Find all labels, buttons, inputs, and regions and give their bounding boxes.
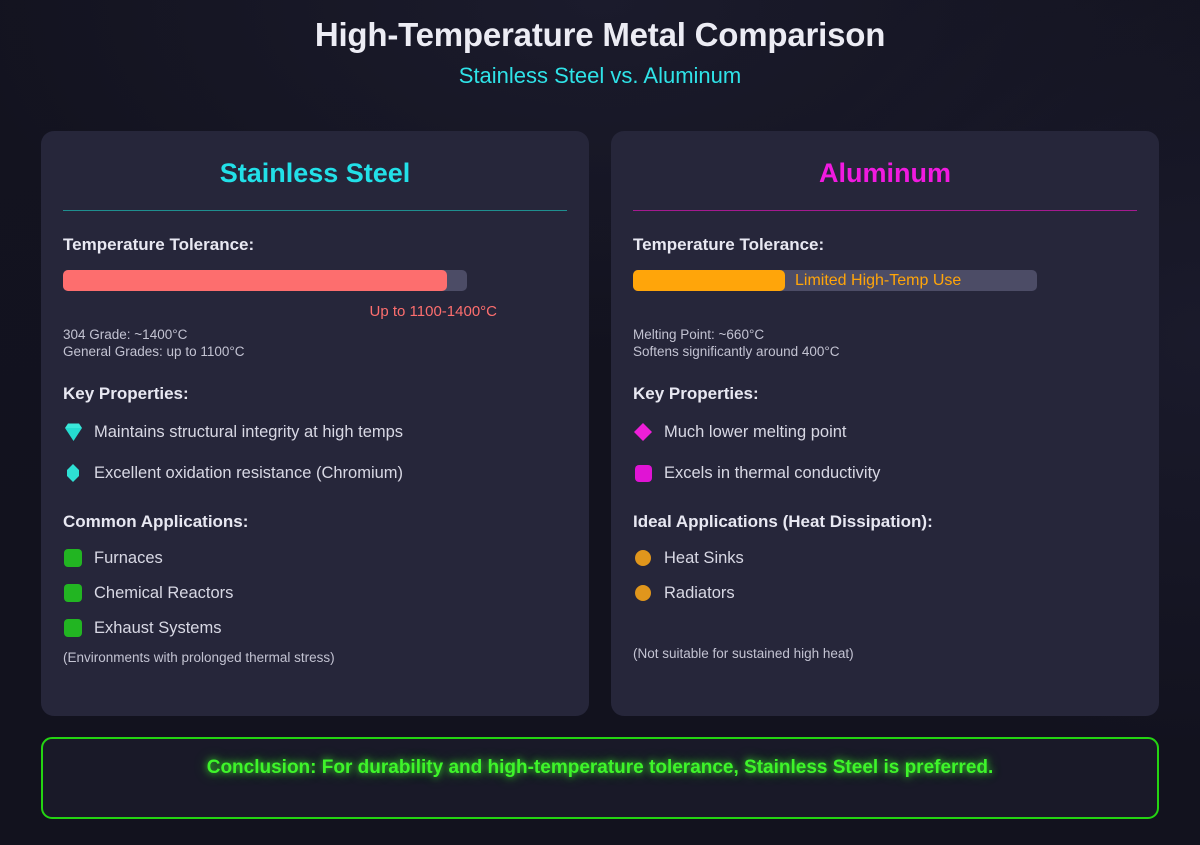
temperature-bar-row: Up to 1100-1400°C	[63, 270, 567, 320]
temperature-bar-fill	[633, 270, 785, 291]
list-item-label: Excellent oxidation resistance (Chromium…	[94, 463, 403, 483]
list-item: Exhaust Systems	[63, 615, 567, 641]
list-item: Radiators	[633, 580, 1137, 606]
list-item: Much lower melting point	[633, 417, 1137, 447]
page-header: High-Temperature Metal Comparison Stainl…	[0, 0, 1200, 89]
list-item-label: Excels in thermal conductivity	[664, 463, 880, 483]
list-item: Chemical Reactors	[63, 580, 567, 606]
list-item: Furnaces	[63, 545, 567, 571]
common-applications-label: Common Applications:	[63, 512, 567, 532]
orange-circle-icon	[633, 583, 653, 603]
temperature-bar-inline-label: Limited High-Temp Use	[795, 270, 961, 291]
green-square-icon	[63, 548, 83, 568]
list-item-label: Heat Sinks	[664, 548, 744, 568]
card-stainless-steel: Stainless Steel Temperature Tolerance: U…	[41, 131, 589, 716]
page-subtitle: Stainless Steel vs. Aluminum	[0, 63, 1200, 89]
temperature-bar-caption: Up to 1100-1400°C	[63, 303, 497, 320]
card-aluminum: Aluminum Temperature Tolerance: Limited …	[611, 131, 1159, 716]
conclusion-text: Conclusion: For durability and high-temp…	[207, 757, 994, 778]
list-item-label: Radiators	[664, 583, 735, 603]
applications-list: Furnaces Chemical Reactors Exhaust Syste…	[63, 545, 567, 641]
list-item-label: Maintains structural integrity at high t…	[94, 422, 403, 442]
applications-list: Heat Sinks Radiators	[633, 545, 1137, 606]
gem-diamond-icon	[63, 422, 83, 442]
card-title-stainless-steel: Stainless Steel	[63, 149, 567, 193]
detail-line: Melting Point: ~660°C	[633, 326, 1137, 343]
detail-line: General Grades: up to 1100°C	[63, 343, 567, 360]
key-properties-list: Maintains structural integrity at high t…	[63, 417, 567, 488]
page-title: High-Temperature Metal Comparison	[0, 16, 1200, 54]
list-item: Excellent oxidation resistance (Chromium…	[63, 458, 567, 488]
temperature-tolerance-label: Temperature Tolerance:	[63, 235, 567, 255]
detail-line: Softens significantly around 400°C	[633, 343, 1137, 360]
applications-note: (Not suitable for sustained high heat)	[633, 646, 1137, 661]
card-divider	[633, 210, 1137, 211]
temperature-bar-fill	[63, 270, 447, 291]
key-properties-label: Key Properties:	[633, 384, 1137, 404]
temperature-bar-row: Limited High-Temp Use	[633, 270, 1137, 291]
comparison-page: High-Temperature Metal Comparison Stainl…	[0, 0, 1200, 845]
comparison-cards: Stainless Steel Temperature Tolerance: U…	[41, 131, 1159, 716]
list-item-label: Exhaust Systems	[94, 618, 221, 638]
card-title-aluminum: Aluminum	[633, 149, 1137, 193]
temperature-detail-lines: Melting Point: ~660°C Softens significan…	[633, 326, 1137, 360]
list-item: Heat Sinks	[633, 545, 1137, 571]
temperature-detail-lines: 304 Grade: ~1400°C General Grades: up to…	[63, 326, 567, 360]
conclusion-banner: Conclusion: For durability and high-temp…	[41, 737, 1159, 819]
list-item-label: Furnaces	[94, 548, 163, 568]
list-item: Excels in thermal conductivity	[633, 458, 1137, 488]
magenta-diamond-icon	[633, 422, 653, 442]
magenta-square-icon	[633, 463, 653, 483]
detail-line: 304 Grade: ~1400°C	[63, 326, 567, 343]
key-properties-label: Key Properties:	[63, 384, 567, 404]
small-diamond-icon	[63, 463, 83, 483]
green-square-icon	[63, 618, 83, 638]
temperature-bar-track: Limited High-Temp Use	[633, 270, 1037, 291]
list-item: Maintains structural integrity at high t…	[63, 417, 567, 447]
card-divider	[63, 210, 567, 211]
temperature-bar-track	[63, 270, 467, 291]
key-properties-list: Much lower melting point Excels in therm…	[633, 417, 1137, 488]
list-item-label: Chemical Reactors	[94, 583, 233, 603]
temperature-tolerance-label: Temperature Tolerance:	[633, 235, 1137, 255]
green-square-icon	[63, 583, 83, 603]
list-item-label: Much lower melting point	[664, 422, 847, 442]
ideal-applications-label: Ideal Applications (Heat Dissipation):	[633, 512, 1137, 532]
applications-note: (Environments with prolonged thermal str…	[63, 650, 567, 665]
orange-circle-icon	[633, 548, 653, 568]
